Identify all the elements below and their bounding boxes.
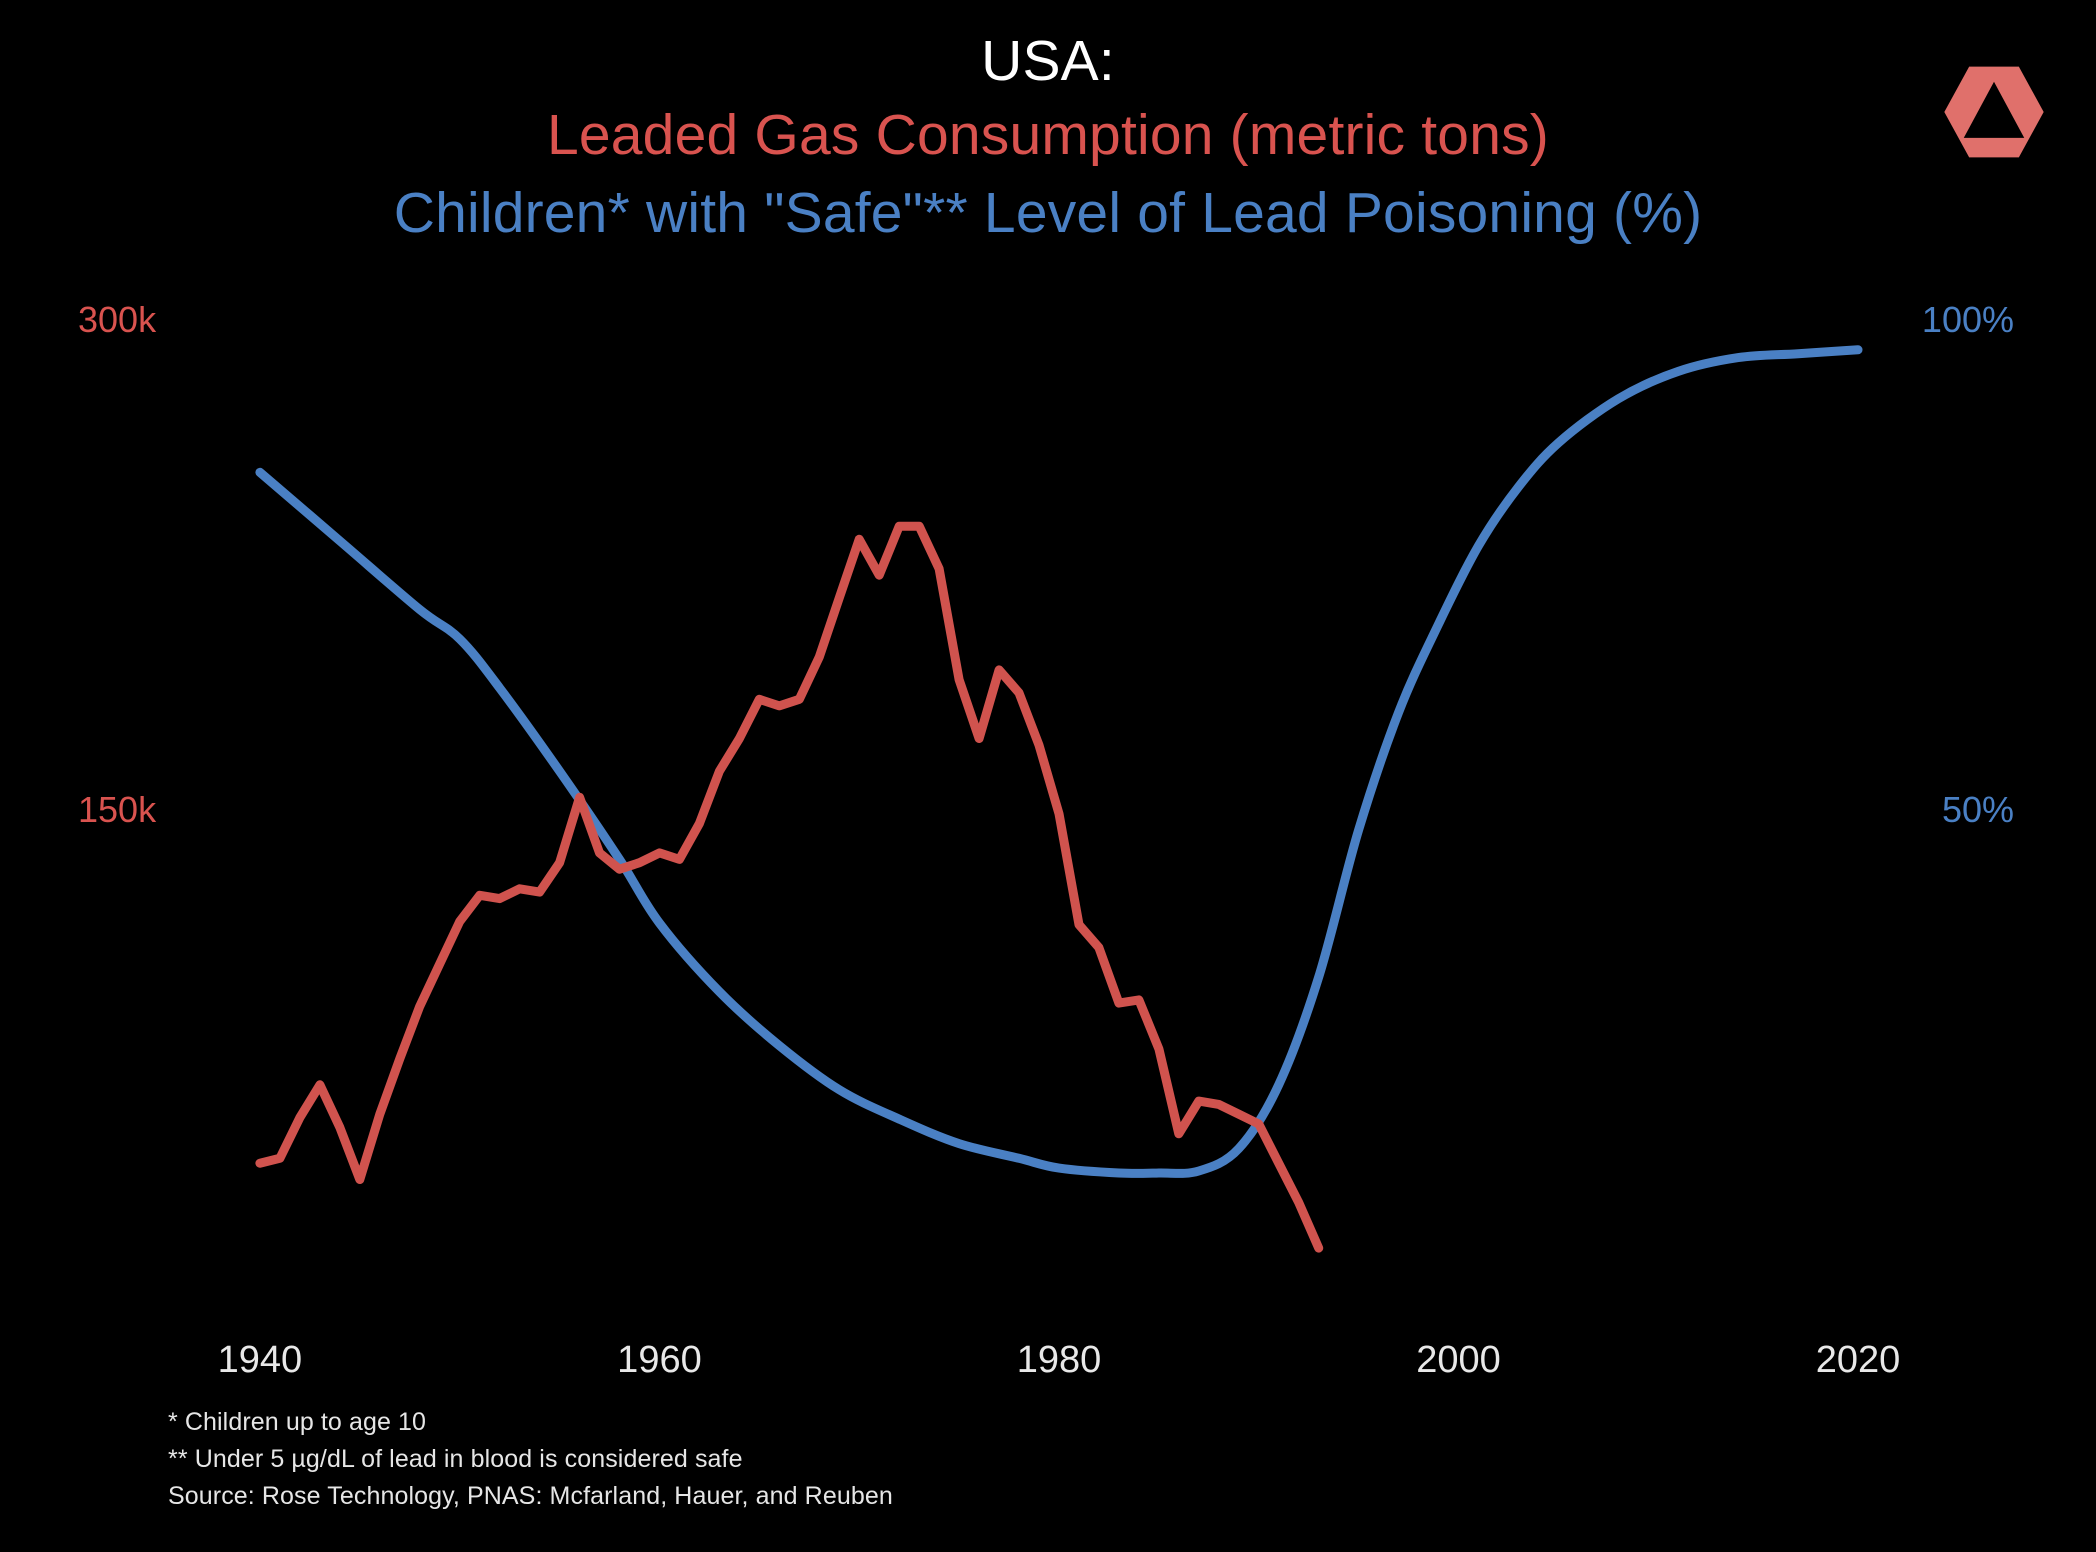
chart-page: USA: Leaded Gas Consumption (metric tons… bbox=[0, 0, 2096, 1552]
footnote-source: Source: Rose Technology, PNAS: Mcfarland… bbox=[168, 1478, 893, 1515]
footnotes: * Children up to age 10 ** Under 5 µg/dL… bbox=[168, 1404, 893, 1515]
footnote-children-age: * Children up to age 10 bbox=[168, 1404, 893, 1441]
footnote-safe-definition: ** Under 5 µg/dL of lead in blood is con… bbox=[168, 1441, 893, 1478]
series-line-children-safe-lead bbox=[260, 350, 1858, 1174]
series-line-leaded-gas bbox=[260, 526, 1319, 1248]
chart-plot-area bbox=[0, 0, 2096, 1552]
